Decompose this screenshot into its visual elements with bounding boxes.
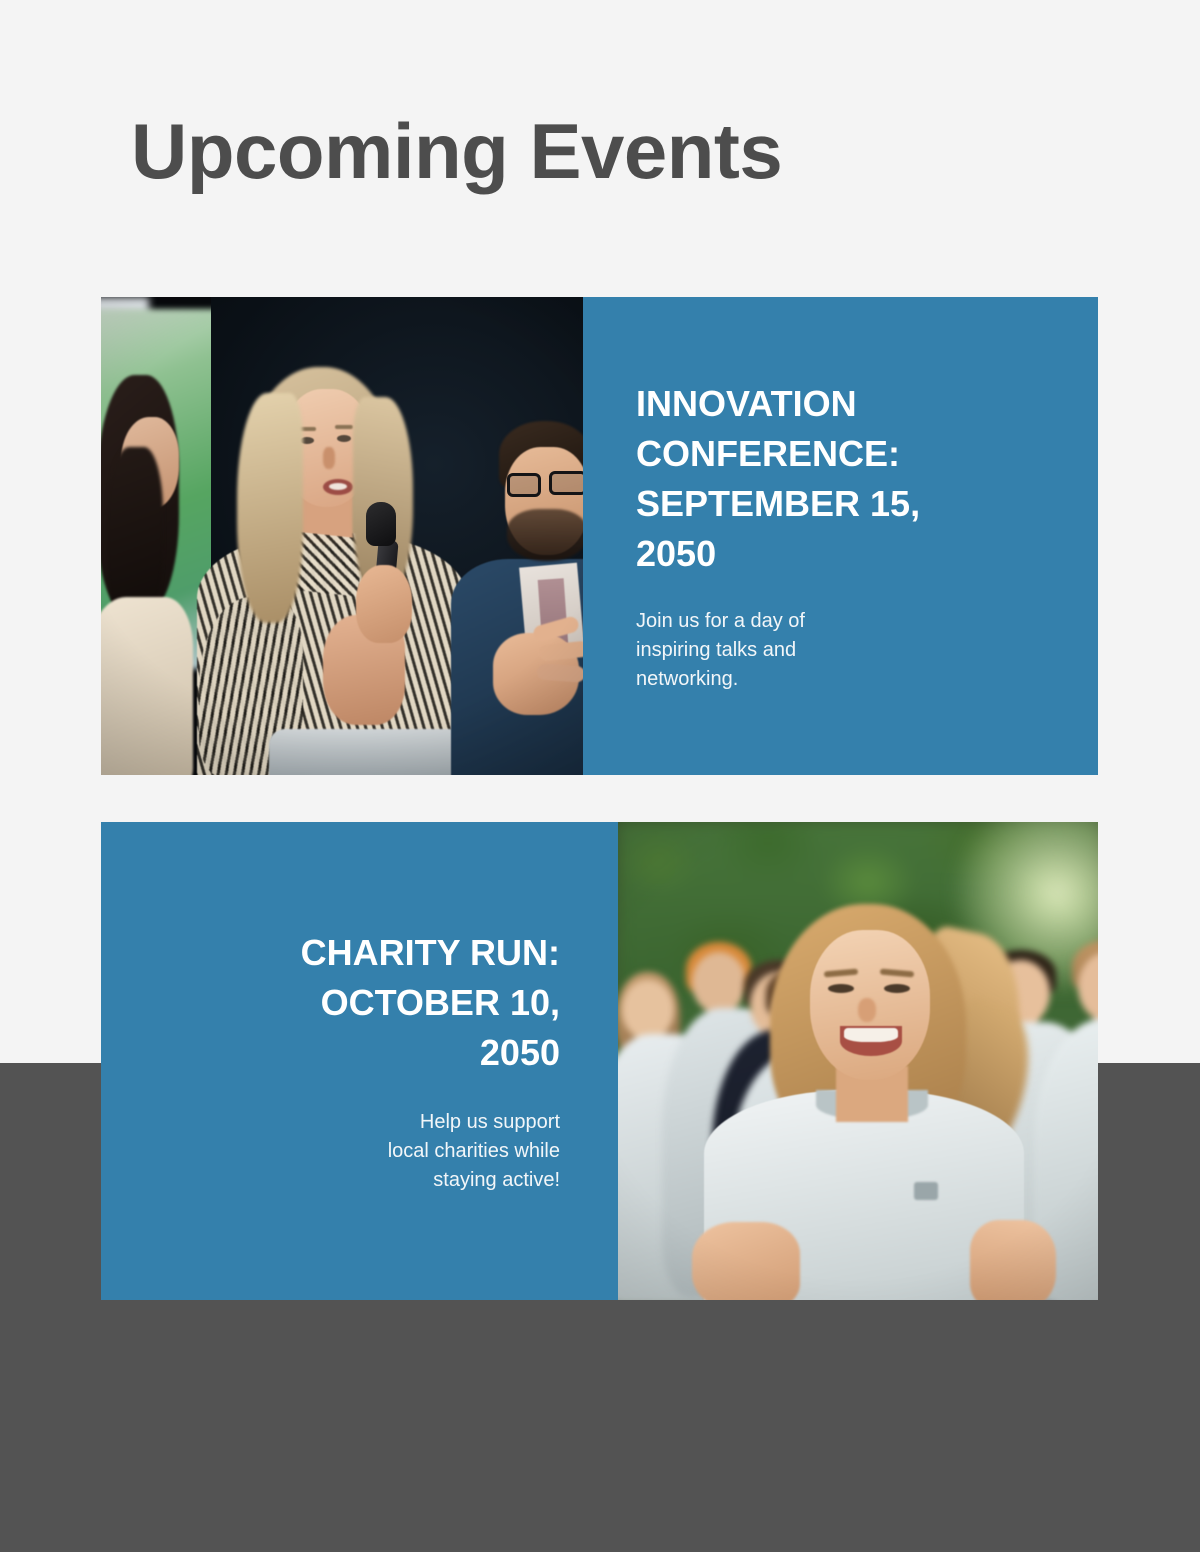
event-heading: Charity Run: October 10, 2050: [240, 928, 560, 1078]
flyer-page: Upcoming Events: [0, 0, 1200, 1552]
event-text-charity-run: Charity Run: October 10, 2050 Help us su…: [101, 822, 618, 1300]
event-text-innovation-conference: Innovation Conference: September 15, 205…: [583, 297, 1098, 775]
event-heading: Innovation Conference: September 15, 205…: [636, 379, 986, 579]
photo-vignette: [618, 822, 1098, 1300]
photo-vignette: [101, 297, 583, 775]
event-image-charity-run: [618, 822, 1098, 1300]
event-description: Join us for a day of inspiring talks and…: [636, 607, 851, 694]
event-card-charity-run[interactable]: Charity Run: October 10, 2050 Help us su…: [101, 822, 1098, 1300]
event-image-innovation-conference: [101, 297, 583, 775]
event-description: Help us support local charities while st…: [380, 1108, 560, 1195]
event-card-innovation-conference[interactable]: Innovation Conference: September 15, 205…: [101, 297, 1098, 775]
page-title: Upcoming Events: [131, 112, 782, 190]
conference-panel-photo: [101, 297, 583, 775]
charity-run-photo: [618, 822, 1098, 1300]
